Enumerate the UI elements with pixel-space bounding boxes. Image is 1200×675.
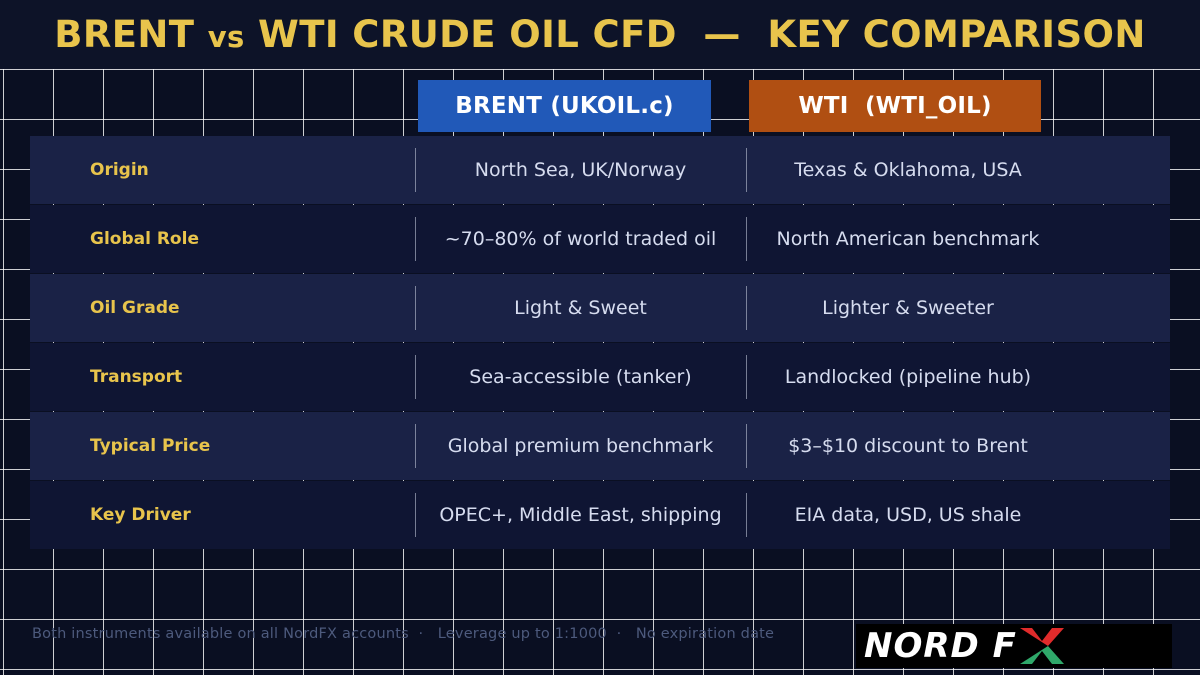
column-divider-1 bbox=[415, 148, 416, 192]
column-divider-1 bbox=[415, 355, 416, 399]
column-divider-2 bbox=[746, 217, 747, 261]
row-label: Key Driver bbox=[30, 505, 415, 525]
logo-x-icon bbox=[1019, 626, 1065, 666]
page-title: BRENT vs WTI CRUDE OIL CFD — KEY COMPARI… bbox=[54, 16, 1145, 53]
column-divider-2 bbox=[746, 493, 747, 537]
column-divider-1 bbox=[415, 493, 416, 537]
cell-wti: Landlocked (pipeline hub) bbox=[746, 366, 1170, 388]
row-label: Transport bbox=[30, 367, 415, 387]
cell-brent: North Sea, UK/Norway bbox=[415, 159, 746, 181]
slide-canvas: BRENT vs WTI CRUDE OIL CFD — KEY COMPARI… bbox=[0, 0, 1200, 675]
footer-note: Both instruments available on all NordFX… bbox=[32, 626, 774, 642]
column-divider-2 bbox=[746, 148, 747, 192]
column-header-brent[interactable]: BRENT (UKOIL.c) bbox=[418, 80, 711, 132]
cell-brent: Global premium benchmark bbox=[415, 435, 746, 457]
page-title-prefix: BRENT bbox=[54, 13, 207, 56]
cell-brent: Sea-accessible (tanker) bbox=[415, 366, 746, 388]
row-label: Typical Price bbox=[30, 436, 415, 456]
cell-wti: Texas & Oklahoma, USA bbox=[746, 159, 1170, 181]
cell-wti: North American benchmark bbox=[746, 228, 1170, 250]
column-divider-2 bbox=[746, 355, 747, 399]
logo-x-svg bbox=[1019, 626, 1065, 666]
column-divider-1 bbox=[415, 217, 416, 261]
column-headers: BRENT (UKOIL.c) WTI (WTI_OIL) bbox=[0, 80, 1200, 132]
column-divider-1 bbox=[415, 286, 416, 330]
cell-brent: Light & Sweet bbox=[415, 297, 746, 319]
row-label: Origin bbox=[30, 160, 415, 180]
table-row: Typical Price Global premium benchmark $… bbox=[30, 412, 1170, 480]
title-band: BRENT vs WTI CRUDE OIL CFD — KEY COMPARI… bbox=[0, 0, 1200, 69]
table-row: Key Driver OPEC+, Middle East, shipping … bbox=[30, 481, 1170, 549]
cell-wti: $3–$10 discount to Brent bbox=[746, 435, 1170, 457]
page-title-vs: vs bbox=[208, 20, 245, 54]
cell-brent: ~70–80% of world traded oil bbox=[415, 228, 746, 250]
column-divider-1 bbox=[415, 424, 416, 468]
row-label: Global Role bbox=[30, 229, 415, 249]
table-row: Transport Sea-accessible (tanker) Landlo… bbox=[30, 343, 1170, 411]
nordfx-logo: NORD F bbox=[856, 624, 1172, 668]
cell-brent: OPEC+, Middle East, shipping bbox=[415, 504, 746, 526]
table-row: Oil Grade Light & Sweet Lighter & Sweete… bbox=[30, 274, 1170, 342]
table-row: Origin North Sea, UK/Norway Texas & Okla… bbox=[30, 136, 1170, 204]
cell-wti: EIA data, USD, US shale bbox=[746, 504, 1170, 526]
column-divider-2 bbox=[746, 424, 747, 468]
column-header-wti[interactable]: WTI (WTI_OIL) bbox=[749, 80, 1041, 132]
comparison-table: Origin North Sea, UK/Norway Texas & Okla… bbox=[30, 136, 1170, 550]
column-divider-2 bbox=[746, 286, 747, 330]
row-label: Oil Grade bbox=[30, 298, 415, 318]
cell-wti: Lighter & Sweeter bbox=[746, 297, 1170, 319]
table-row: Global Role ~70–80% of world traded oil … bbox=[30, 205, 1170, 273]
logo-wordmark: NORD F bbox=[856, 629, 1017, 663]
page-title-suffix: WTI CRUDE OIL CFD — KEY COMPARISON bbox=[245, 13, 1146, 56]
